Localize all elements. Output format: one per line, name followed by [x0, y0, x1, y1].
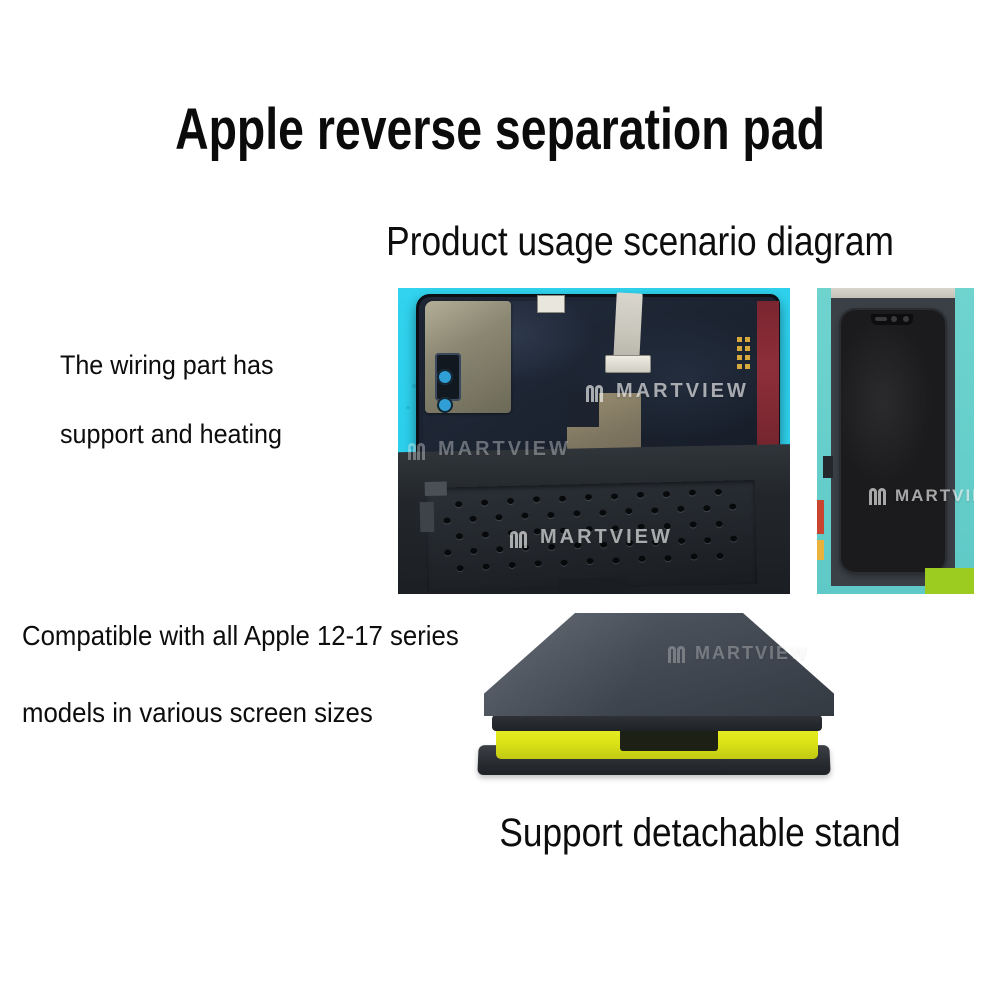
flex-ribbon-cable — [613, 292, 643, 361]
feature-text-compatibility: Compatible with all Apple 12-17 series m… — [22, 620, 537, 774]
vacuum-hole-grid — [437, 488, 749, 588]
gold-contact-pads — [737, 337, 753, 371]
plate-notch — [420, 502, 435, 532]
mat-speck — [406, 406, 410, 409]
phone-screen-detail-photo: MARTVIEW — [817, 288, 974, 594]
product-marketing-page: Apple reverse separation pad Product usa… — [0, 0, 1000, 1000]
bottom-caption: Support detachable stand — [462, 808, 937, 858]
camera-lens-opening — [437, 397, 453, 413]
feature-text-wiring-line2: support and heating — [60, 419, 367, 450]
phone-screen-panel — [841, 310, 945, 572]
pad-top-surface — [484, 613, 834, 725]
camera-lens-opening — [437, 369, 453, 385]
phone-on-separation-pad-photo: MARTVIEW MARTVIEW MARTVIEW — [398, 288, 790, 594]
earpiece-slot — [875, 317, 887, 321]
top-connector — [537, 295, 565, 313]
feature-text-wiring-support: The wiring part has support and heating — [60, 350, 367, 488]
separation-pad-product-photo: MARTVIEW — [470, 605, 870, 800]
lime-mat-corner — [925, 568, 974, 594]
front-camera-dot — [891, 316, 897, 322]
sensor-dot — [903, 316, 909, 322]
red-tool-edge — [817, 500, 824, 534]
page-title: Apple reverse separation pad — [100, 95, 900, 165]
flex-cable-connector — [605, 355, 651, 373]
mat-speck — [408, 446, 414, 449]
side-clamp-tab — [823, 456, 833, 478]
emi-shield-plate — [425, 301, 511, 413]
feature-text-compat-line2: models in various screen sizes — [22, 697, 537, 729]
section-subtitle: Product usage scenario diagram — [348, 215, 933, 267]
feature-text-wiring-line1: The wiring part has — [60, 350, 367, 381]
feature-text-compat-line1: Compatible with all Apple 12-17 series — [22, 620, 537, 652]
pad-side-edge — [492, 715, 822, 731]
red-tool-edge — [817, 540, 824, 560]
